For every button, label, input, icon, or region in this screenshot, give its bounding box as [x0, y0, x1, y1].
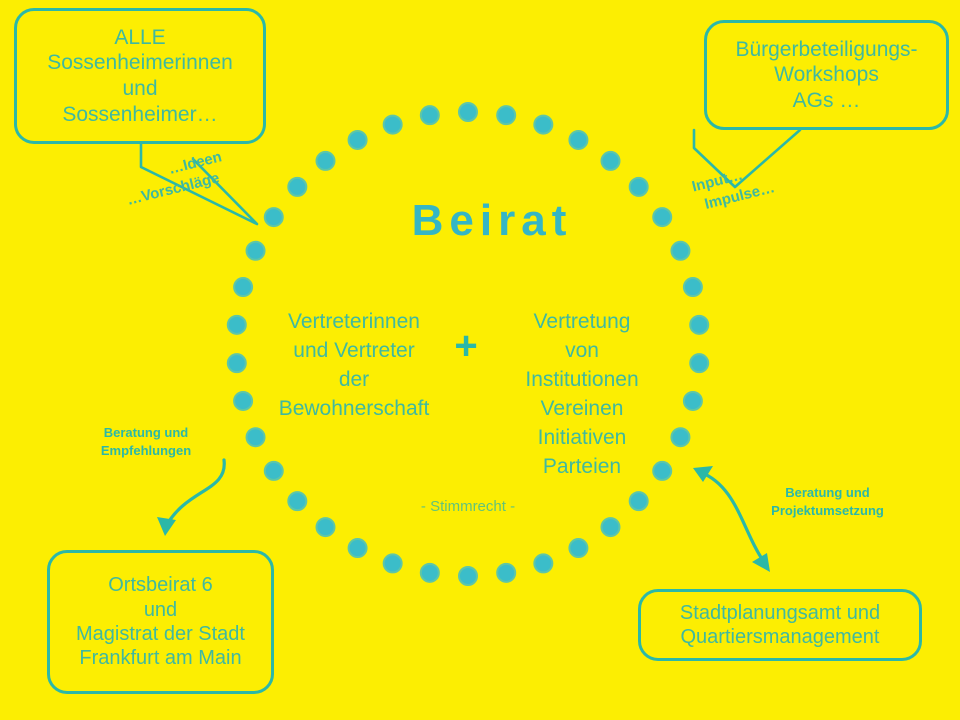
ring-dot [569, 539, 587, 557]
annotation-line: Beratung und [740, 484, 915, 502]
box-line: und [144, 598, 177, 622]
arrowhead-down-right [752, 553, 770, 572]
column-line: Initiativen [480, 424, 684, 453]
column-line: Vertreterinnen [252, 308, 456, 337]
speech-bubble-residents[interactable]: ALLE Sossenheimerinnen und Sossenheimer… [14, 8, 266, 144]
ring-dot [459, 103, 477, 121]
bubble-line: ALLE [114, 25, 165, 51]
box-line: Ortsbeirat 6 [108, 573, 212, 597]
box-line: Magistrat der Stadt [76, 622, 245, 646]
arrowhead-up-left [693, 466, 713, 482]
ring-dot [630, 178, 648, 196]
diagram-title: Beirat [0, 196, 960, 246]
bubble-line: und [122, 76, 157, 102]
annotation-line: Projektumsetzung [740, 502, 915, 520]
column-line: Parteien [480, 453, 684, 482]
ring-dot [569, 131, 587, 149]
ring-dot [534, 116, 552, 134]
ring-dot [684, 392, 702, 410]
voting-rights-note: - Stimmrecht - [368, 498, 568, 515]
box-stadtplanungsamt-quartiersmanagement[interactable]: Stadtplanungsamt und Quartiersmanagement [638, 589, 922, 661]
box-ortsbeirat-magistrat[interactable]: Ortsbeirat 6 und Magistrat der Stadt Fra… [47, 550, 274, 694]
ring-dot [459, 567, 477, 585]
ring-dot [234, 278, 252, 296]
ring-dot [247, 428, 265, 446]
ring-dot [421, 106, 439, 124]
ring-dot [349, 131, 367, 149]
ring-dot [497, 564, 515, 582]
annotation-beratung-projektumsetzung: Beratung und Projektumsetzung [740, 484, 915, 519]
arrowhead-down-left [157, 517, 176, 536]
column-line: von [480, 337, 684, 366]
speech-bubble-workshops[interactable]: Bürgerbeteiligungs- Workshops AGs … [704, 20, 949, 130]
annotation-line: Beratung und [76, 424, 216, 442]
column-line: Institutionen [480, 366, 684, 395]
ring-dot [317, 518, 335, 536]
bubble-line: Sossenheimerinnen [47, 50, 233, 76]
column-line: Bewohnerschaft [252, 395, 456, 424]
ring-dot [602, 518, 620, 536]
ring-dot [349, 539, 367, 557]
diagram-canvas: ALLE Sossenheimerinnen und Sossenheimer…… [0, 0, 960, 720]
ring-dot [228, 316, 246, 334]
box-line: Frankfurt am Main [79, 646, 241, 670]
arrow-beratung-empfehlungen [165, 460, 224, 528]
ring-dot [684, 278, 702, 296]
column-residents-representatives: Vertreterinnen und Vertreter der Bewohne… [252, 308, 456, 424]
ring-dot [421, 564, 439, 582]
column-line: Vertretung [480, 308, 684, 337]
column-institutions-representation: Vertretung von Institutionen Vereinen In… [480, 308, 684, 482]
annotation-line: Empfehlungen [76, 442, 216, 460]
ring-dot [317, 152, 335, 170]
box-line: Quartiersmanagement [681, 625, 880, 649]
bubble-line: AGs … [793, 88, 861, 114]
bubble-line: Bürgerbeteiligungs- [735, 37, 917, 63]
ring-dot [384, 554, 402, 572]
bubble-line: Workshops [774, 62, 879, 88]
ring-dot [265, 462, 283, 480]
ring-dot [228, 354, 246, 372]
column-line: Vereinen [480, 395, 684, 424]
ring-dot [384, 116, 402, 134]
ring-dot [630, 492, 648, 510]
column-line: und Vertreter [252, 337, 456, 366]
ring-dot [690, 316, 708, 334]
ring-dot [234, 392, 252, 410]
ring-dot [534, 554, 552, 572]
annotation-beratung-empfehlungen: Beratung und Empfehlungen [76, 424, 216, 459]
column-line: der [252, 366, 456, 395]
ring-dot [690, 354, 708, 372]
ring-dot [288, 492, 306, 510]
box-line: Stadtplanungsamt und [680, 601, 880, 625]
ring-dot [497, 106, 515, 124]
ring-dot [288, 178, 306, 196]
ring-dot [602, 152, 620, 170]
bubble-line: Sossenheimer… [62, 102, 217, 128]
